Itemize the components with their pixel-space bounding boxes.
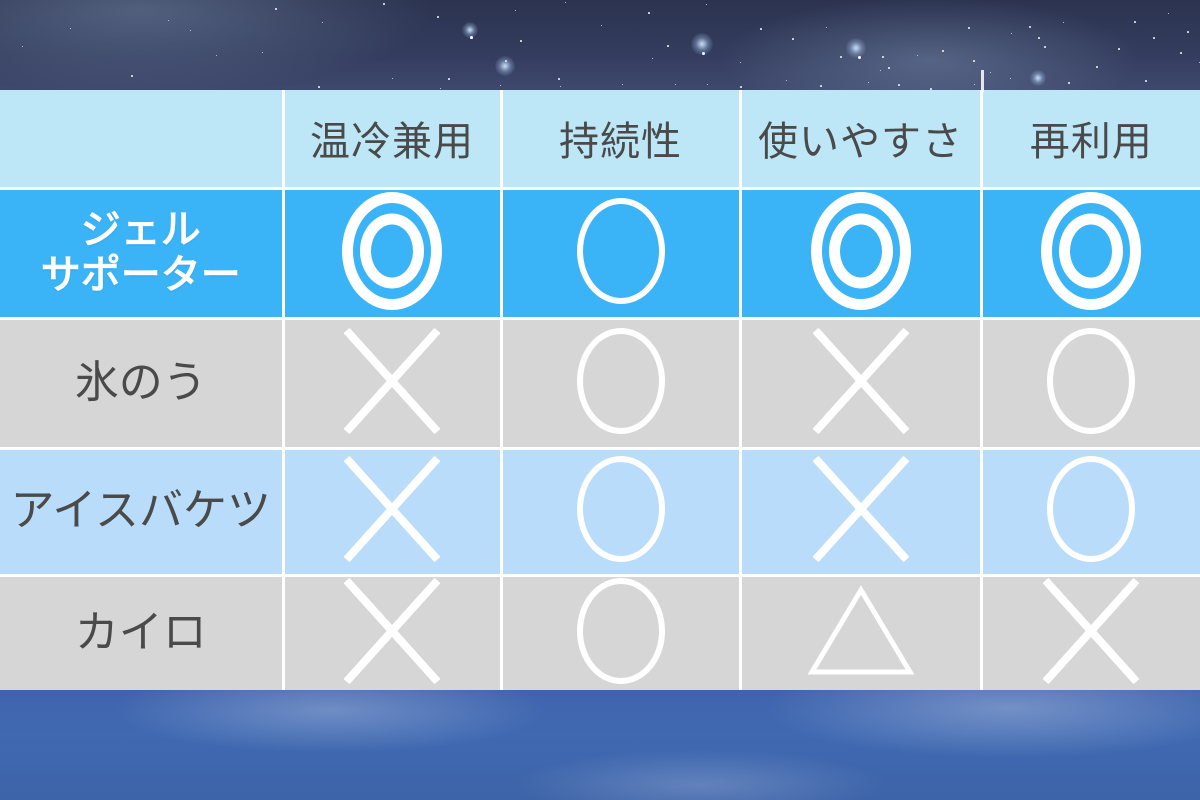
double-circle-icon bbox=[342, 192, 442, 310]
cell-r2-c0 bbox=[283, 448, 501, 575]
cell-r3-c2 bbox=[740, 575, 981, 690]
double-circle-icon bbox=[811, 192, 911, 310]
cross-icon bbox=[342, 581, 442, 681]
cell-r0-c3 bbox=[981, 188, 1200, 318]
cell-r1-c0 bbox=[283, 318, 501, 448]
column-header-3: 再利用 bbox=[981, 90, 1200, 188]
cell-r2-c1 bbox=[501, 448, 740, 575]
row-header-3: カイロ bbox=[0, 575, 283, 690]
row-header-0: ジェルサポーター bbox=[0, 188, 283, 318]
cell-r1-c1 bbox=[501, 318, 740, 448]
cross-icon bbox=[811, 459, 911, 559]
column-header-1: 持続性 bbox=[501, 90, 740, 188]
double-circle-icon bbox=[1041, 192, 1141, 310]
cell-r0-c1 bbox=[501, 188, 740, 318]
circle-icon bbox=[577, 456, 665, 562]
cell-r0-c2 bbox=[740, 188, 981, 318]
blue-sky-band bbox=[0, 690, 1200, 800]
row-label-line: サポーター bbox=[41, 252, 241, 297]
row-label-line: ジェル bbox=[81, 207, 201, 252]
cell-r3-c0 bbox=[283, 575, 501, 690]
cell-r3-c1 bbox=[501, 575, 740, 690]
cell-r2-c3 bbox=[981, 448, 1200, 575]
row-label-line: カイロ bbox=[75, 608, 207, 657]
table-corner-cell bbox=[0, 90, 283, 188]
cross-icon bbox=[1041, 581, 1141, 681]
cell-r1-c3 bbox=[981, 318, 1200, 448]
cell-r2-c2 bbox=[740, 448, 981, 575]
comparison-table-wrap: 温冷兼用 持続性 使いやすさ 再利用 ジェルサポーター氷のうアイスバケツカイロ bbox=[0, 90, 1200, 690]
cross-icon bbox=[342, 331, 442, 431]
cell-r3-c3 bbox=[981, 575, 1200, 690]
cross-icon bbox=[342, 459, 442, 559]
table-body: ジェルサポーター氷のうアイスバケツカイロ bbox=[0, 188, 1200, 690]
circle-icon bbox=[577, 328, 665, 434]
circle-icon bbox=[577, 198, 665, 304]
cell-r0-c0 bbox=[283, 188, 501, 318]
cell-r1-c2 bbox=[740, 318, 981, 448]
column-header-0: 温冷兼用 bbox=[283, 90, 501, 188]
starry-sky-band bbox=[0, 0, 1200, 100]
comparison-table: 温冷兼用 持続性 使いやすさ 再利用 ジェルサポーター氷のうアイスバケツカイロ bbox=[0, 90, 1200, 690]
header-row: 温冷兼用 持続性 使いやすさ 再利用 bbox=[0, 90, 1200, 188]
triangle-icon bbox=[807, 585, 915, 677]
row-label-line: アイスバケツ bbox=[11, 486, 271, 535]
table-row: ジェルサポーター bbox=[0, 188, 1200, 318]
circle-icon bbox=[577, 578, 665, 684]
cross-icon bbox=[811, 331, 911, 431]
row-label-line: 氷のう bbox=[75, 358, 207, 407]
table-row: カイロ bbox=[0, 575, 1200, 690]
circle-icon bbox=[1047, 328, 1135, 434]
column-divider-extension bbox=[981, 70, 984, 92]
table-header: 温冷兼用 持続性 使いやすさ 再利用 bbox=[0, 90, 1200, 188]
row-header-2: アイスバケツ bbox=[0, 448, 283, 575]
table-row: 氷のう bbox=[0, 318, 1200, 448]
column-header-2: 使いやすさ bbox=[740, 90, 981, 188]
table-row: アイスバケツ bbox=[0, 448, 1200, 575]
circle-icon bbox=[1047, 456, 1135, 562]
row-header-1: 氷のう bbox=[0, 318, 283, 448]
